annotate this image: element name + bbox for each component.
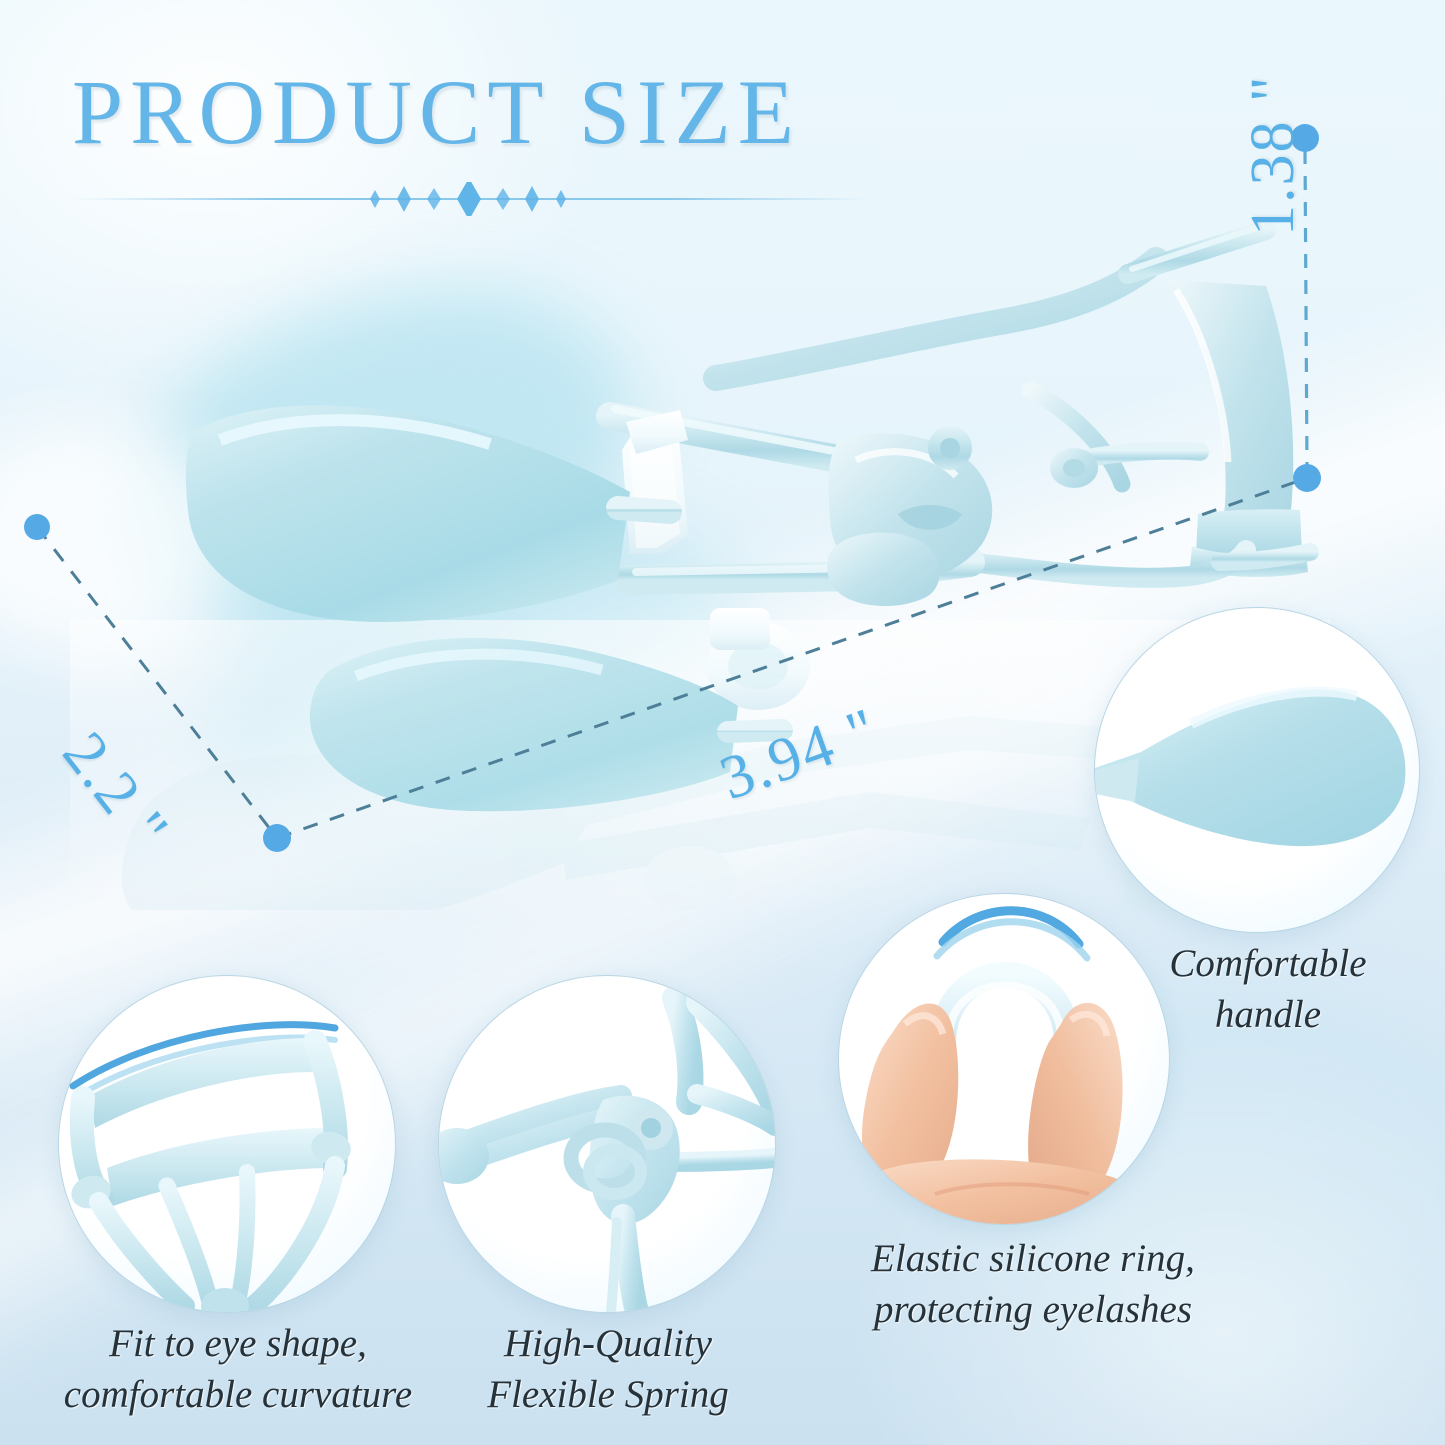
feature-circle-silicone-ring — [838, 893, 1170, 1225]
feature-caption-fit-to-eye-shape: Fit to eye shape, comfortable curvature — [28, 1318, 448, 1421]
feature-caption-spring: High-Quality Flexible Spring — [458, 1318, 758, 1421]
dimension-endpoint-dot — [1293, 464, 1321, 492]
dimension-endpoint-dot — [24, 514, 50, 540]
curler-head-icon — [59, 976, 395, 1312]
feature-circle-curler-head — [58, 975, 396, 1313]
dimension-endpoint-dot — [263, 824, 291, 852]
spring-mechanism-icon — [439, 976, 775, 1312]
feature-caption-silicone-ring: Elastic silicone ring, protecting eyelas… — [848, 1233, 1218, 1336]
handle-icon — [1095, 608, 1419, 932]
feature-circle-handle — [1094, 607, 1420, 933]
feature-circle-spring — [438, 975, 776, 1313]
product-size-infographic: PRODUCT SIZE — [0, 0, 1445, 1445]
fingers-holding-silicone-ring-icon — [839, 894, 1169, 1224]
feature-caption-handle: Comfortable handle — [1128, 938, 1408, 1041]
height-dimension-label: 1.38 " — [1238, 75, 1309, 236]
